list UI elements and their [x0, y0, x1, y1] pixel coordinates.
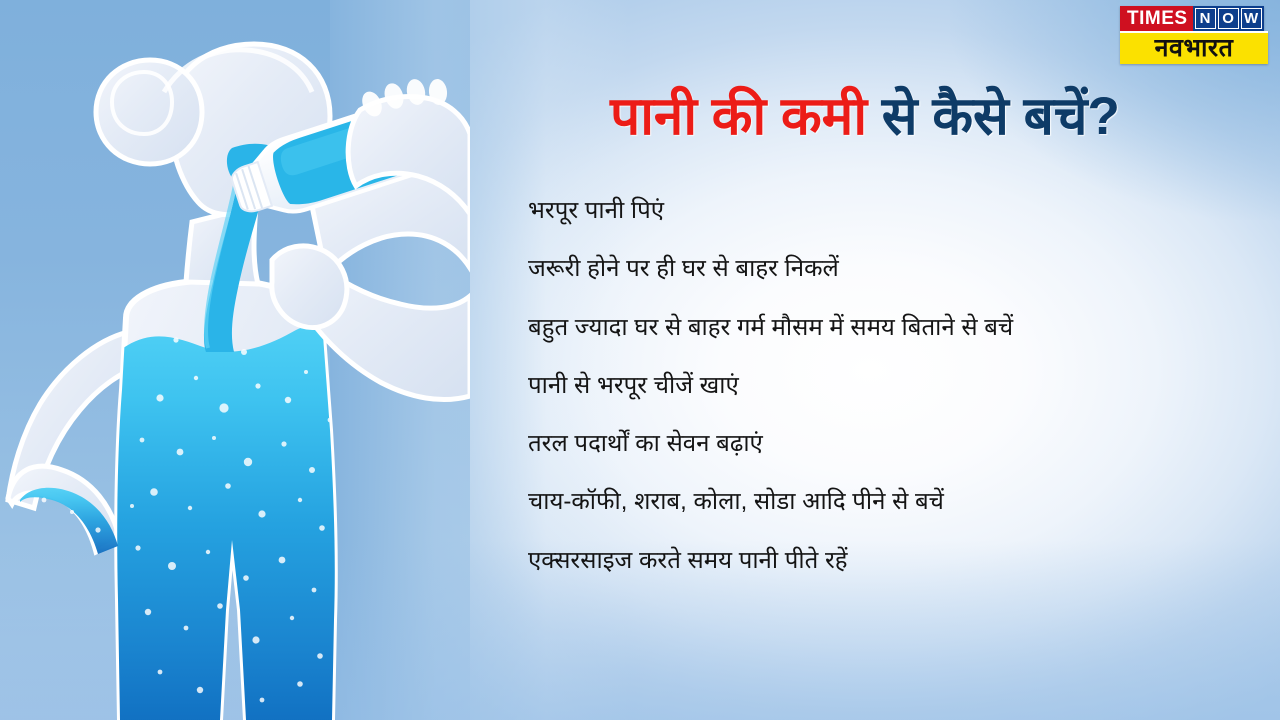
list-item: एक्सरसाइज करते समय पानी पीते रहें — [528, 546, 1268, 575]
page-title-highlight: पानी की कमी — [610, 87, 867, 146]
logo-bottom-row: नवभारत — [1120, 31, 1268, 64]
logo-now-letter-n: N — [1195, 8, 1216, 29]
poster-canvas: TIMES N O W नवभारत पानी की कमी से कैसे ब… — [0, 0, 1280, 720]
page-title-rest: से कैसे बचें? — [867, 87, 1120, 146]
logo-times-label: TIMES — [1120, 6, 1193, 31]
list-item: चाय-कॉफी, शराब, कोला, सोडा आदि पीने से ब… — [528, 487, 1268, 516]
list-item: पानी से भरपूर चीजें खाएं — [528, 371, 1268, 400]
logo-now-letter-w: W — [1241, 8, 1262, 29]
list-item: भरपूर पानी पिएं — [528, 196, 1268, 225]
list-item: बहुत ज्यादा घर से बाहर गर्म मौसम में समय… — [528, 313, 1268, 342]
list-item: जरूरी होने पर ही घर से बाहर निकलें — [528, 254, 1268, 283]
logo-top-row: TIMES N O W — [1120, 6, 1268, 31]
page-title: पानी की कमी से कैसे बचें? — [470, 88, 1260, 145]
tips-list: भरपूर पानी पिएं जरूरी होने पर ही घर से ब… — [528, 196, 1268, 575]
times-now-navbharat-logo: TIMES N O W नवभारत — [1120, 6, 1268, 64]
shoulder — [272, 246, 347, 328]
logo-now-letters: N O W — [1193, 6, 1264, 31]
list-item: तरल पदार्थों का सेवन बढ़ाएं — [528, 429, 1268, 458]
logo-navbharat-label: नवभारत — [1155, 36, 1234, 61]
woman-drinking-water-illustration — [0, 0, 470, 720]
logo-now-letter-o: O — [1218, 8, 1239, 29]
